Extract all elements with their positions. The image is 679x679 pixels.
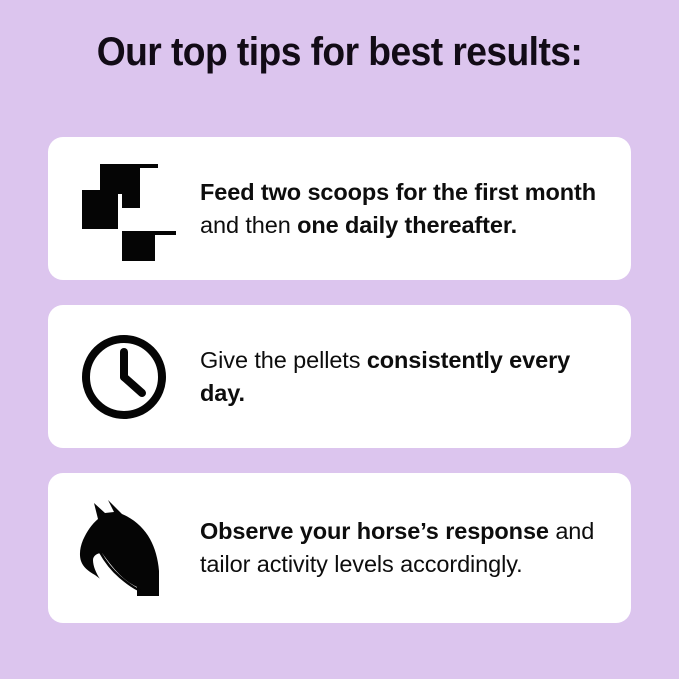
tip-card-consistency: Give the pellets consistently every day. [48, 305, 631, 448]
tip-text-segment: Give the pellets [200, 347, 367, 373]
two-scoops-icon [72, 157, 176, 261]
tip-card-observation: Observe your horse’s response and tailor… [48, 473, 631, 623]
tips-card-list: Feed two scoops for the first month and … [48, 137, 631, 623]
clock-icon [78, 331, 170, 423]
tip-text: Observe your horse’s response and tailor… [200, 515, 631, 581]
tips-infographic: Our top tips for best results: [0, 0, 679, 679]
tip-text: Give the pellets consistently every day. [200, 344, 631, 410]
tip-icon-cell [48, 137, 200, 280]
tip-text-segment: Observe your horse’s response [200, 518, 555, 544]
tip-text-segment: one daily thereafter. [297, 212, 517, 238]
tip-icon-cell [48, 305, 200, 448]
tip-text-segment: Feed two scoops for the first month [200, 179, 596, 205]
page-title: Our top tips for best results: [24, 30, 655, 75]
tip-icon-cell [48, 473, 200, 623]
tip-text-segment: and then [200, 212, 297, 238]
tip-card-feeding: Feed two scoops for the first month and … [48, 137, 631, 280]
tip-text: Feed two scoops for the first month and … [200, 176, 631, 242]
horse-head-icon [74, 497, 174, 599]
